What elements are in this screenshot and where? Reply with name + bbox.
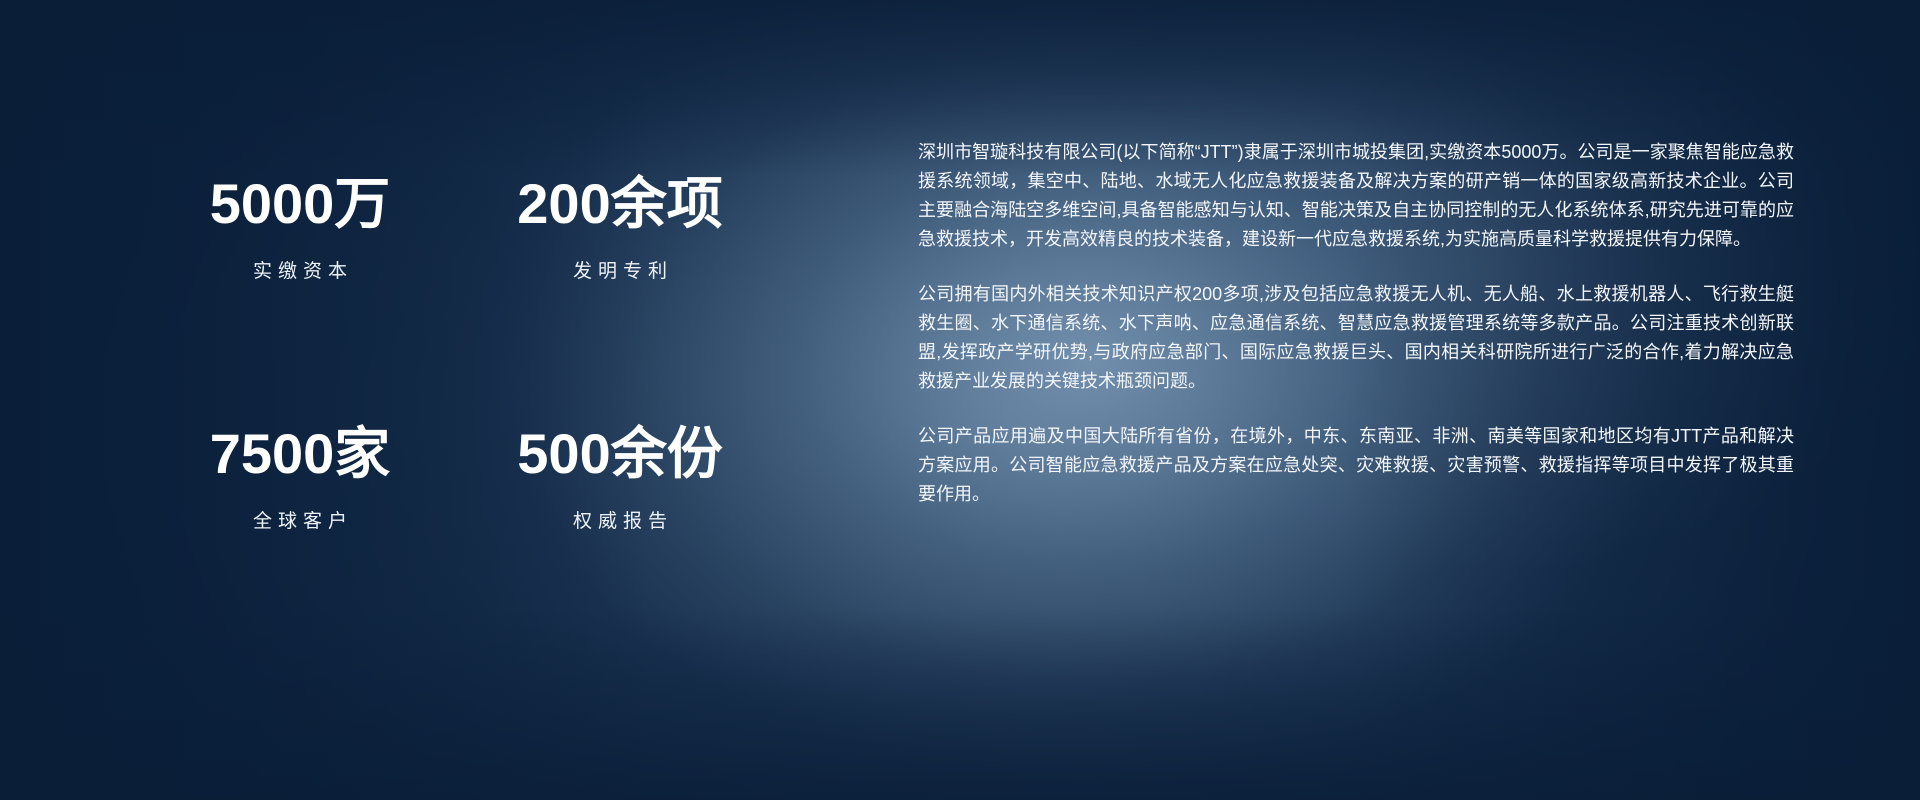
- stat-label: 全球客户: [140, 506, 460, 533]
- company-profile-slide: 5000万 实缴资本 200余项 发明专利 7500家 全球客户 500余份 权…: [0, 0, 1920, 800]
- stat-label: 发明专利: [460, 256, 780, 283]
- stat-label: 实缴资本: [140, 256, 460, 283]
- stat-item-invention-patents: 200余项 发明专利: [460, 175, 780, 425]
- company-description: 深圳市智璇科技有限公司(以下简称“JTT”)隶属于深圳市城投集团,实缴资本500…: [918, 138, 1794, 509]
- stat-label: 权威报告: [460, 506, 780, 533]
- stat-value: 500余份: [460, 425, 780, 484]
- stat-value: 200余项: [460, 175, 780, 234]
- description-paragraph-2: 公司拥有国内外相关技术知识产权200多项,涉及包括应急救援无人机、无人船、水上救…: [918, 280, 1794, 396]
- stat-value: 7500家: [140, 425, 460, 484]
- stat-item-paid-in-capital: 5000万 实缴资本: [140, 175, 460, 425]
- stat-item-global-customers: 7500家 全球客户: [140, 425, 460, 675]
- description-paragraph-1: 深圳市智璇科技有限公司(以下简称“JTT”)隶属于深圳市城投集团,实缴资本500…: [918, 138, 1794, 254]
- stat-item-authoritative-reports: 500余份 权威报告: [460, 425, 780, 675]
- stat-value: 5000万: [140, 175, 460, 234]
- description-paragraph-3: 公司产品应用遍及中国大陆所有省份，在境外，中东、东南亚、非洲、南美等国家和地区均…: [918, 422, 1794, 509]
- statistics-grid: 5000万 实缴资本 200余项 发明专利 7500家 全球客户 500余份 权…: [140, 175, 800, 675]
